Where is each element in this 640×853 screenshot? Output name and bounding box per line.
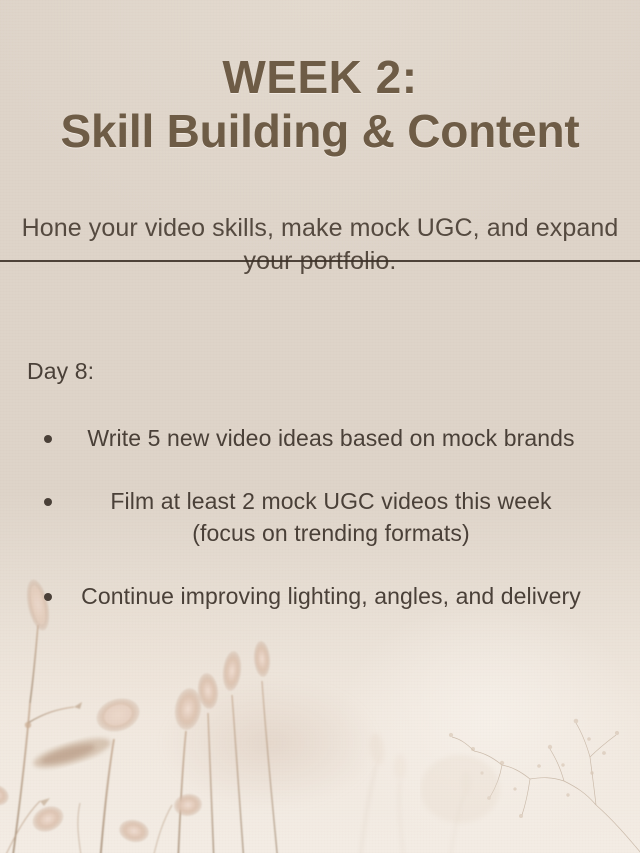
list-item-label: Continue improving lighting, angles, and…: [80, 580, 582, 613]
list-item: Write 5 new video ideas based on mock br…: [20, 422, 620, 455]
poster-canvas: WEEK 2: Skill Building & Content Hone yo…: [0, 0, 640, 853]
bullet-dot-icon: [44, 593, 52, 601]
bullet-dot-icon: [44, 498, 52, 506]
poster-subtitle: Hone your video skills, make mock UGC, a…: [18, 212, 622, 278]
title-line-1: WEEK 2:: [0, 52, 640, 104]
list-item-label: Write 5 new video ideas based on mock br…: [80, 422, 582, 455]
title-line-2: Skill Building & Content: [0, 106, 640, 158]
list-item-label: Film at least 2 mock UGC videos this wee…: [80, 485, 582, 550]
task-list: Write 5 new video ideas based on mock br…: [20, 422, 620, 643]
bullet-dot-icon: [44, 435, 52, 443]
list-item: Continue improving lighting, angles, and…: [20, 580, 620, 613]
day-label: Day 8:: [27, 358, 94, 385]
horizontal-divider: [0, 260, 640, 262]
poster-title: WEEK 2: Skill Building & Content: [0, 52, 640, 157]
list-item: Film at least 2 mock UGC videos this wee…: [20, 485, 620, 550]
poster-content: WEEK 2: Skill Building & Content Hone yo…: [0, 0, 640, 853]
